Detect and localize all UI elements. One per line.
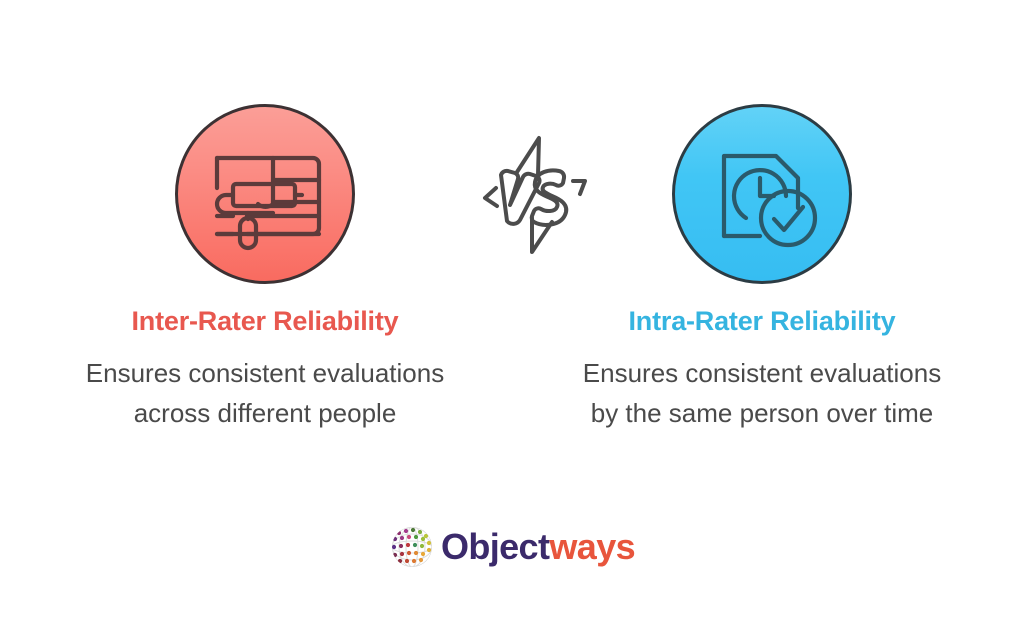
infographic-canvas: Inter-Rater Reliability Ensures consiste… [0, 0, 1024, 638]
objectways-sphere-logo [389, 524, 435, 570]
objectways-logo: Objectways [0, 524, 1024, 570]
inter-rater-icon-badge [175, 104, 355, 284]
vs-spark-icon [468, 128, 602, 262]
paint-roller-table-icon [203, 132, 327, 256]
intra-rater-heading: Intra-Rater Reliability [629, 306, 896, 337]
intra-rater-icon-badge [672, 104, 852, 284]
document-clock-check-icon [700, 132, 824, 256]
logo-text-ways: ways [549, 526, 635, 567]
comparison-column-left: Inter-Rater Reliability Ensures consiste… [35, 0, 495, 433]
logo-text-object: Object [441, 526, 549, 567]
objectways-wordmark: Objectways [441, 529, 635, 565]
intra-rater-description: Ensures consistent evaluations by the sa… [572, 354, 952, 433]
inter-rater-heading: Inter-Rater Reliability [132, 306, 399, 337]
inter-rater-description: Ensures consistent evaluations across di… [55, 354, 475, 433]
